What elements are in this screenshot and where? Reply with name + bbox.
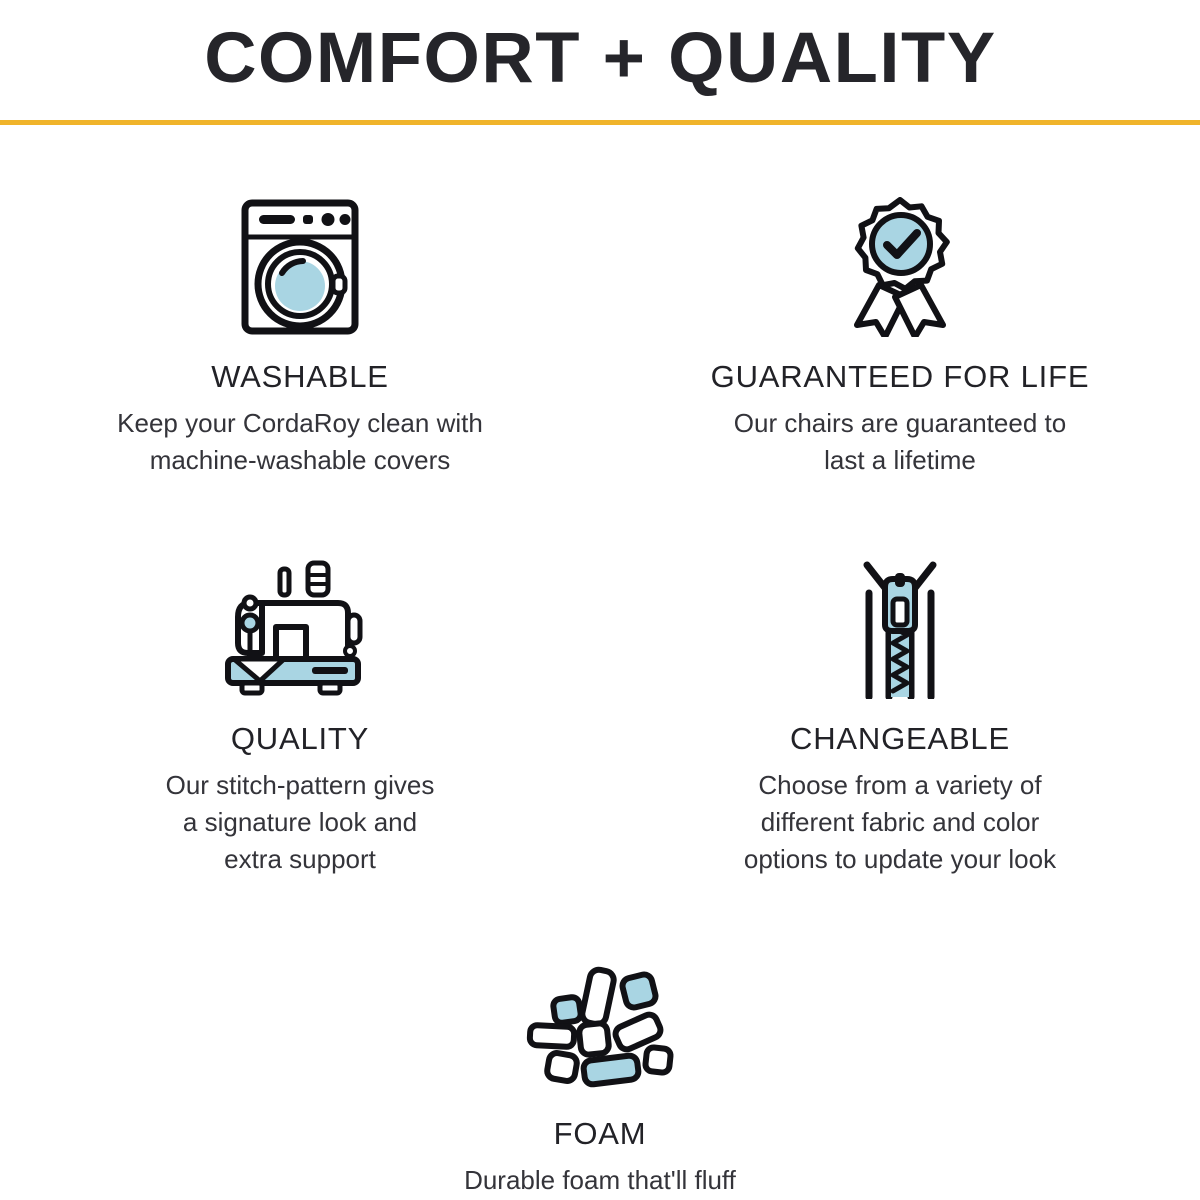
feature-row-1: WASHABLE Keep your CordaRoy clean with m… xyxy=(0,187,1200,479)
feature-foam: FOAM Durable foam that'll fluff xyxy=(300,944,900,1199)
desc-line: Our stitch-pattern gives xyxy=(166,767,435,804)
page-title: COMFORT + QUALITY xyxy=(204,23,996,94)
feature-title: FOAM xyxy=(554,1116,647,1152)
desc-line: Choose from a variety of xyxy=(744,767,1056,804)
feature-guaranteed-for-life: GUARANTEED FOR LIFE Our chairs are guara… xyxy=(600,187,1200,479)
feature-description: Our chairs are guaranteed to last a life… xyxy=(734,405,1066,479)
feature-washable: WASHABLE Keep your CordaRoy clean with m… xyxy=(0,187,600,479)
washing-machine-icon xyxy=(235,187,365,337)
desc-line: Durable foam that'll fluff xyxy=(464,1162,736,1199)
foam-pieces-icon xyxy=(520,944,680,1094)
feature-description: Keep your CordaRoy clean with machine-wa… xyxy=(117,405,483,479)
feature-title: CHANGEABLE xyxy=(790,721,1010,757)
feature-row-2: QUALITY Our stitch-pattern gives a signa… xyxy=(0,549,1200,878)
desc-line: machine-washable covers xyxy=(117,442,483,479)
desc-line: options to update your look xyxy=(744,841,1056,878)
feature-title: QUALITY xyxy=(231,721,369,757)
feature-quality: QUALITY Our stitch-pattern gives a signa… xyxy=(0,549,600,878)
desc-line: Our chairs are guaranteed to xyxy=(734,405,1066,442)
award-badge-icon xyxy=(835,187,965,337)
feature-title: GUARANTEED FOR LIFE xyxy=(711,359,1090,395)
feature-grid: WASHABLE Keep your CordaRoy clean with m… xyxy=(0,125,1200,1198)
title-divider-rule xyxy=(0,120,1200,125)
zipper-icon xyxy=(845,549,955,699)
page-header: COMFORT + QUALITY xyxy=(0,0,1200,125)
feature-title: WASHABLE xyxy=(211,359,389,395)
desc-line: last a lifetime xyxy=(734,442,1066,479)
feature-description: Our stitch-pattern gives a signature loo… xyxy=(166,767,435,878)
sewing-machine-icon xyxy=(220,549,380,699)
desc-line: different fabric and color xyxy=(744,804,1056,841)
desc-line: extra support xyxy=(166,841,435,878)
feature-row-3: FOAM Durable foam that'll fluff xyxy=(0,944,1200,1199)
feature-description: Durable foam that'll fluff xyxy=(464,1162,736,1199)
feature-changeable: CHANGEABLE Choose from a variety of diff… xyxy=(600,549,1200,878)
feature-description: Choose from a variety of different fabri… xyxy=(744,767,1056,878)
desc-line: Keep your CordaRoy clean with xyxy=(117,405,483,442)
desc-line: a signature look and xyxy=(166,804,435,841)
